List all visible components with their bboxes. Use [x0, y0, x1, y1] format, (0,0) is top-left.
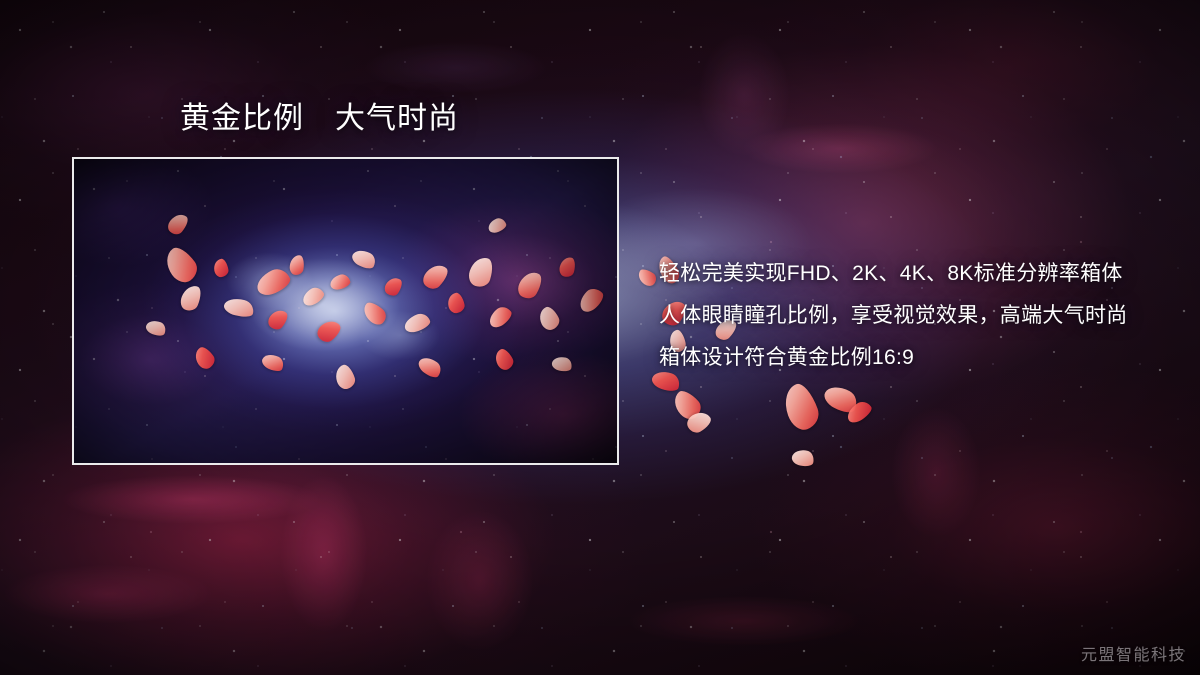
- body-line: 箱体设计符合黄金比例16:9: [659, 337, 1159, 379]
- preview-vignette: [74, 159, 617, 463]
- body-line: 轻松完美实现FHD、2K、4K、8K标准分辨率箱体: [659, 253, 1159, 295]
- presentation-slide: 黄金比例 大气时尚: [0, 0, 1200, 675]
- preview-panel-image: [74, 159, 617, 463]
- body-line: 人体眼睛瞳孔比例，享受视觉效果，高端大气时尚: [659, 295, 1159, 337]
- watermark: 元盟智能科技: [1081, 641, 1186, 665]
- body-text-block: 轻松完美实现FHD、2K、4K、8K标准分辨率箱体 人体眼睛瞳孔比例，享受视觉效…: [659, 253, 1159, 379]
- page-title: 黄金比例 大气时尚: [180, 103, 459, 135]
- preview-panel-frame[interactable]: [72, 157, 619, 465]
